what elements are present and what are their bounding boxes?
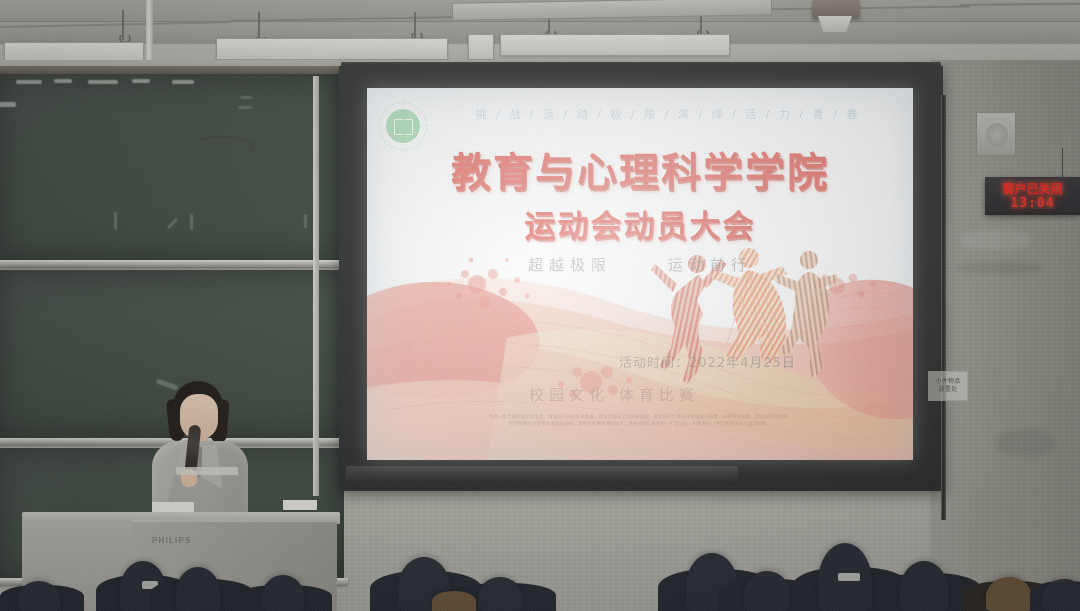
audience-collar — [838, 573, 860, 581]
emblem-inner — [386, 109, 420, 143]
audience-head — [18, 581, 60, 611]
wall-scuff — [960, 230, 1030, 250]
slide-title-main: 教育与心理科学学院 — [367, 140, 913, 198]
ceiling-light-panel — [468, 34, 494, 60]
wall-cable — [192, 136, 254, 158]
chalkboard-panel-top — [0, 74, 344, 260]
storage-notice-text: 小件物品 放置处 — [935, 378, 960, 394]
projector-lens — [818, 16, 852, 32]
slide-event-time: 活动时间：2022年4月25日 — [619, 352, 796, 371]
audience-head — [176, 567, 220, 611]
audience-head — [1042, 579, 1080, 611]
ceiling-light-panel — [500, 34, 730, 56]
led-antenna — [1062, 148, 1063, 180]
led-clock: 13:04 — [985, 196, 1080, 211]
led-status-text: 窗户已关闭 — [985, 180, 1080, 197]
ceiling-hanger-rod — [414, 12, 416, 38]
desk-object — [176, 467, 238, 475]
ceiling-projector — [812, 0, 860, 18]
chalkboard-right-edge — [313, 76, 319, 496]
wall-speaker-icon — [976, 112, 1016, 156]
wall-scuff — [955, 262, 1043, 274]
audience-head — [478, 577, 522, 611]
ceiling-beam — [0, 21, 230, 28]
audience-head — [262, 575, 304, 611]
slide-title-sub: 运动会动员大会 — [367, 201, 913, 246]
fineprint-line-2: 经学院研究决定举办本届运动会，现将有关事项通知如下，请各班级认真组织，广泛动员，… — [403, 421, 877, 428]
led-status-display: 窗户已关闭 13:04 — [985, 177, 1080, 215]
storage-notice-line-2: 放置处 — [939, 386, 958, 393]
projected-slide: 挑 / 战 / 运 / 动 / 极 / 限 / 演 / 绎 / 活 / 力 / … — [367, 88, 913, 460]
slide-fineprint: 为进一步丰富校园文化生活，增强同学们的身体素质，营造积极向上的体育氛围，提高同学… — [403, 414, 877, 428]
ceiling-light-panel — [216, 38, 448, 60]
classroom-photo-scene: 挑 / 战 / 运 / 动 / 极 / 限 / 演 / 绎 / 活 / 力 / … — [0, 0, 1080, 611]
slogan-right: 运动前行 — [668, 254, 752, 275]
slide-slogan-row: 超越极限 运动前行 — [367, 254, 913, 275]
wall-conduit — [941, 95, 946, 520]
slide-culture-line: 校园文化 体育比赛 — [459, 384, 769, 405]
slide-decorative-line: 挑 / 战 / 运 / 动 / 极 / 限 / 演 / 绎 / 活 / 力 / … — [433, 106, 903, 122]
ceiling-hanger-rod — [122, 10, 124, 40]
slogan-left: 超越极限 — [528, 254, 612, 275]
audience-group — [0, 495, 1080, 611]
audience-head — [986, 577, 1032, 611]
audience-head — [432, 591, 476, 611]
storage-notice-line-1: 小件物品 — [935, 378, 960, 385]
audience-head — [900, 561, 948, 611]
screen-bottom-bar — [346, 466, 738, 484]
chalk-rail — [0, 260, 348, 267]
wall-scuff — [995, 430, 1055, 456]
fineprint-line-1: 为进一步丰富校园文化生活，增强同学们的身体素质，营造积极向上的体育氛围，提高同学… — [403, 414, 877, 421]
open-book-icon — [394, 119, 413, 133]
audience-head — [744, 571, 790, 611]
storage-notice-sign: 小件物品 放置处 — [928, 371, 968, 401]
